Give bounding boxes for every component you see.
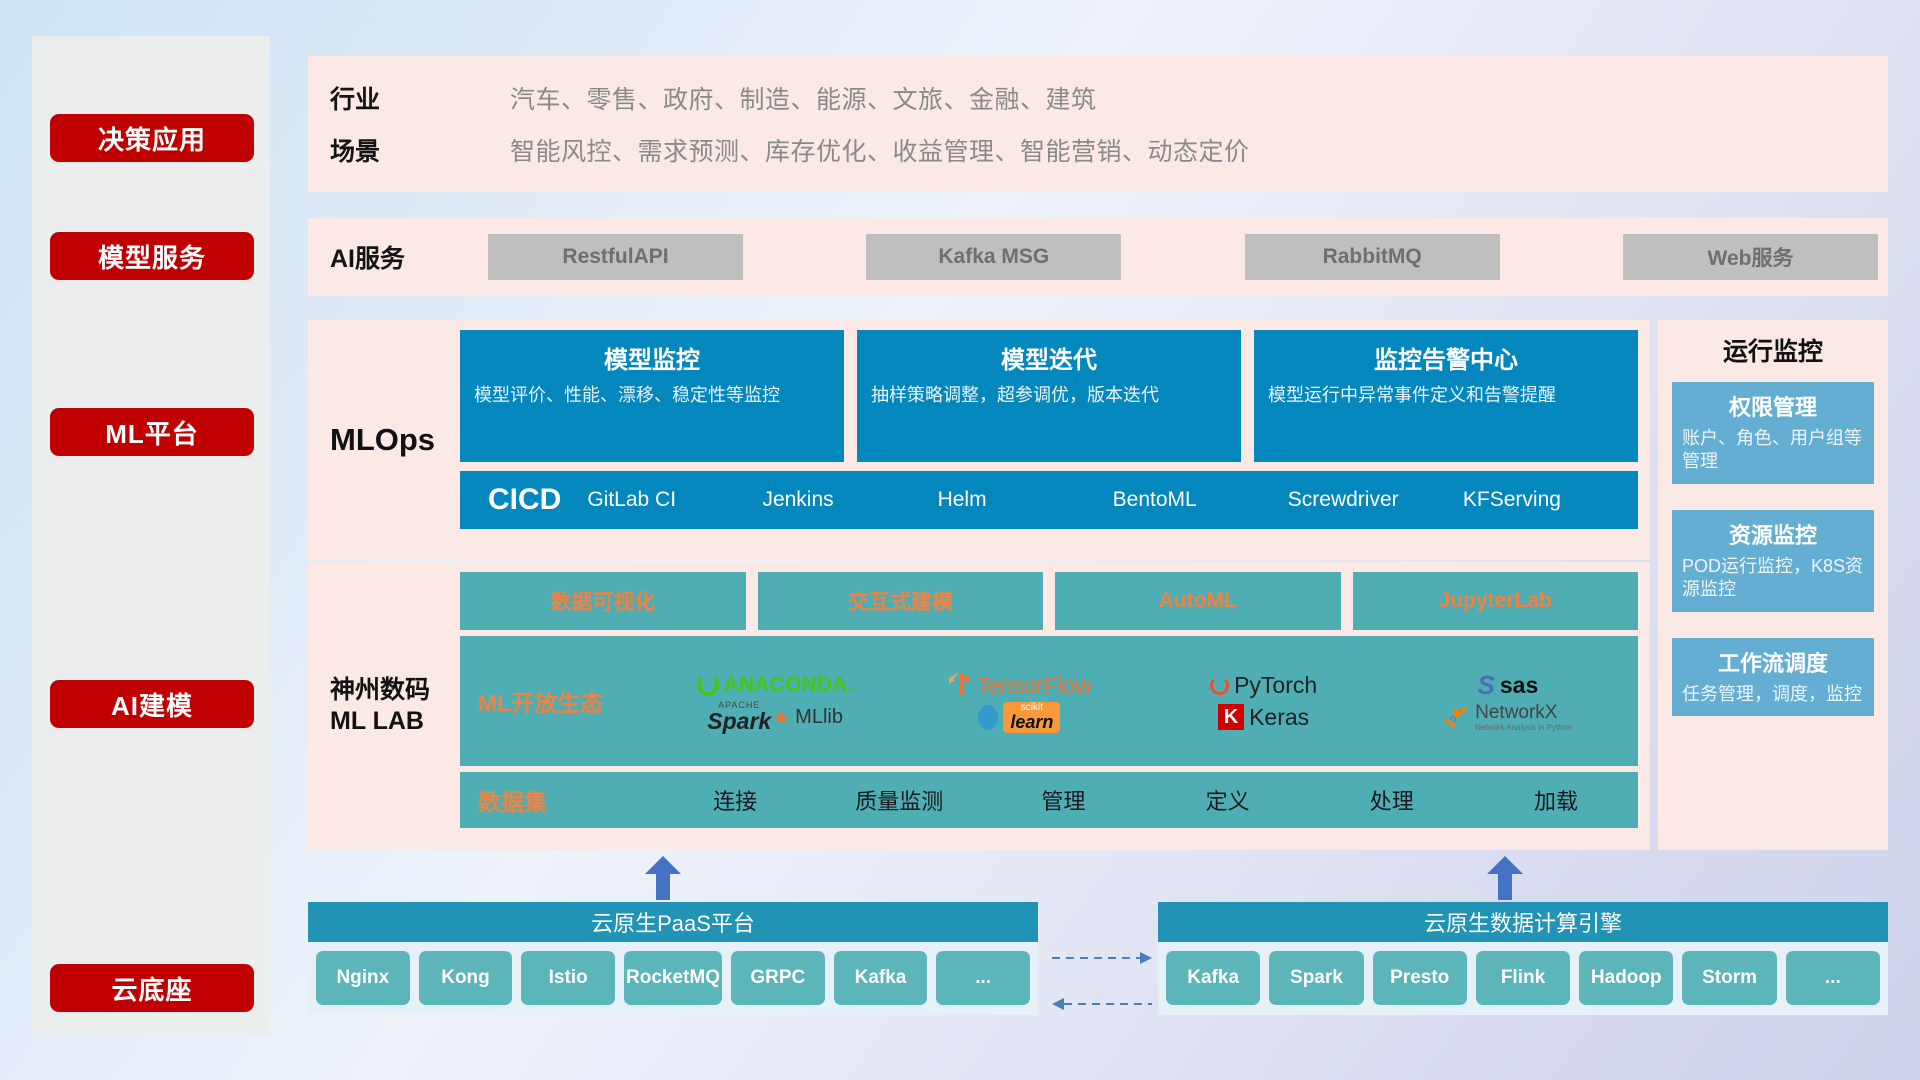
compute-chip-storm[interactable]: Storm	[1682, 951, 1776, 1005]
compute-chip-presto[interactable]: Presto	[1373, 951, 1467, 1005]
scikit-learn-logo: scikit learn	[978, 702, 1060, 733]
cicd-title: CICD	[460, 483, 587, 517]
runtime-monitoring-title: 运行监控	[1672, 332, 1874, 368]
mlops-card-model-monitoring[interactable]: 模型监控 模型评价、性能、漂移、稳定性等监控	[460, 330, 844, 462]
ml-ecosystem-label: ML开放生态	[478, 684, 653, 718]
up-arrow-paas-icon	[645, 856, 681, 900]
scenario-values: 智能风控、需求预测、库存优化、收益管理、智能营销、动态定价	[510, 132, 1888, 168]
cicd-item-screwdriver[interactable]: Screwdriver	[1288, 488, 1463, 512]
monitor-card-resources[interactable]: 资源监控 POD运行监控，K8S资源监控	[1672, 510, 1874, 612]
chip-label: Kong	[441, 968, 490, 989]
chip-label: Hadoop	[1591, 968, 1662, 989]
ai-services-band: AI服务 RestfulAPI Kafka MSG RabbitMQ Web服务	[308, 218, 1888, 296]
cicd-item-gitlab-ci[interactable]: GitLab CI	[587, 488, 762, 512]
chip-label: RocketMQ	[626, 968, 720, 989]
mlops-band: MLOps 模型监控 模型评价、性能、漂移、稳定性等监控 模型迭代 抽样策略调整…	[308, 320, 1650, 560]
learn-label: learn	[1010, 713, 1053, 731]
cloud-native-paas-title: 云原生PaaS平台	[308, 902, 1038, 942]
tool-chip-label: 数据可视化	[550, 586, 655, 616]
paas-chip-kong[interactable]: Kong	[419, 951, 513, 1005]
compute-chip-more[interactable]: ...	[1786, 951, 1880, 1005]
compute-chip-kafka[interactable]: Kafka	[1166, 951, 1260, 1005]
tool-chip-label: JupyterLab	[1439, 589, 1552, 613]
sidebar-item-decision-apps[interactable]: 决策应用	[50, 114, 254, 162]
mlops-card-model-iteration[interactable]: 模型迭代 抽样策略调整，超参调优，版本迭代	[857, 330, 1241, 462]
industry-label: 行业	[330, 80, 510, 116]
service-chip-label: RabbitMQ	[1323, 245, 1422, 269]
scenario-label: 场景	[330, 132, 510, 168]
sidebar-item-label: 模型服务	[98, 238, 206, 275]
sidebar-item-model-service[interactable]: 模型服务	[50, 232, 254, 280]
chip-label: ...	[975, 968, 991, 989]
anaconda-ring-icon	[697, 674, 719, 696]
keras-k-icon: K	[1218, 704, 1244, 730]
cloud-native-paas-group: 云原生PaaS平台 Nginx Kong Istio RocketMQ GRPC…	[308, 902, 1038, 1015]
ai-services-label: AI服务	[330, 239, 488, 275]
sidebar-item-cloud-base[interactable]: 云底座	[50, 964, 254, 1012]
keras-logo-text: Keras	[1249, 704, 1309, 731]
networkx-tagline: Network Analysis in Python	[1475, 724, 1572, 732]
layer-rail: 决策应用 模型服务 ML平台 AI建模 云底座	[32, 36, 270, 1036]
compute-chip-hadoop[interactable]: Hadoop	[1579, 951, 1673, 1005]
dataset-item-manage[interactable]: 管理	[981, 784, 1145, 816]
card-desc: 模型评价、性能、漂移、稳定性等监控	[474, 384, 830, 408]
cicd-row: CICD GitLab CI Jenkins Helm BentoML Scre…	[460, 471, 1638, 529]
paas-chip-rocketmq[interactable]: RocketMQ	[624, 951, 722, 1005]
service-chip-restfulapi[interactable]: RestfulAPI	[488, 234, 743, 280]
dataset-item-connect[interactable]: 连接	[653, 784, 817, 816]
sidebar-item-label: AI建模	[111, 686, 193, 723]
ml-lab-label: 神州数码 ML LAB	[330, 675, 430, 737]
scikit-label: scikit	[1010, 703, 1053, 713]
sas-logo: S sas	[1478, 670, 1539, 701]
networkx-graph-icon	[1444, 705, 1470, 729]
sidebar-item-label: ML平台	[105, 414, 199, 451]
card-title: 监控告警中心	[1374, 340, 1518, 375]
ml-ecosystem-row: ML开放生态 ANACONDA. TensorFlow	[460, 636, 1638, 766]
paas-chip-nginx[interactable]: Nginx	[316, 951, 410, 1005]
chip-label: Presto	[1390, 968, 1449, 989]
compute-chip-flink[interactable]: Flink	[1476, 951, 1570, 1005]
dataset-item-load[interactable]: 加载	[1474, 784, 1638, 816]
service-chip-web-service[interactable]: Web服务	[1623, 234, 1878, 280]
chip-label: Flink	[1501, 968, 1545, 989]
spark-logo-text: Spark	[707, 710, 771, 733]
keras-logo: K Keras	[1218, 704, 1309, 731]
paas-chip-kafka[interactable]: Kafka	[834, 951, 928, 1005]
tensorflow-mark-icon	[948, 671, 972, 699]
card-desc: 任务管理，调度，监控	[1682, 683, 1864, 706]
service-chip-kafka-msg[interactable]: Kafka MSG	[866, 234, 1121, 280]
mlops-label: MLOps	[330, 330, 460, 550]
chip-label: GRPC	[750, 968, 805, 989]
card-desc: 模型运行中异常事件定义和告警提醒	[1268, 384, 1624, 408]
dataset-row: 数据集 连接 质量监测 管理 定义 处理 加载	[460, 772, 1638, 828]
chip-label: Nginx	[336, 968, 389, 989]
cicd-item-jenkins[interactable]: Jenkins	[762, 488, 937, 512]
mlops-card-alert-center[interactable]: 监控告警中心 模型运行中异常事件定义和告警提醒	[1254, 330, 1638, 462]
tool-chip-label: AutoML	[1159, 589, 1237, 613]
monitor-card-workflow[interactable]: 工作流调度 任务管理，调度，监控	[1672, 638, 1874, 716]
anaconda-logo: ANACONDA.	[697, 673, 854, 697]
card-title: 工作流调度	[1682, 646, 1864, 678]
networkx-logo: NetworkX Network Analysis in Python	[1444, 702, 1572, 732]
card-title: 模型监控	[604, 340, 700, 375]
mllib-label: MLlib	[795, 706, 843, 729]
tensorflow-logo: TensorFlow	[948, 671, 1092, 699]
tool-chip-jupyterlab[interactable]: JupyterLab	[1353, 572, 1639, 630]
decision-applications-band: 行业 汽车、零售、政府、制造、能源、文旅、金融、建筑 场景 智能风控、需求预测、…	[308, 56, 1888, 192]
monitor-card-permissions[interactable]: 权限管理 账户、角色、用户组等管理	[1672, 382, 1874, 484]
runtime-monitoring-column: 运行监控 权限管理 账户、角色、用户组等管理 资源监控 POD运行监控，K8S资…	[1658, 320, 1888, 850]
paas-chip-grpc[interactable]: GRPC	[731, 951, 825, 1005]
cicd-item-helm[interactable]: Helm	[938, 488, 1113, 512]
cicd-item-kfserving[interactable]: KFServing	[1463, 488, 1638, 512]
chip-label: Kafka	[1187, 968, 1239, 989]
bidirectional-dashed-arrows-icon	[1048, 940, 1156, 1030]
chip-label: ...	[1825, 968, 1841, 989]
pytorch-logo-text: PyTorch	[1234, 672, 1317, 699]
compute-chip-spark[interactable]: Spark	[1269, 951, 1363, 1005]
paas-chip-more[interactable]: ...	[936, 951, 1030, 1005]
sas-s-icon: S	[1478, 670, 1495, 701]
service-chip-label: Kafka MSG	[938, 245, 1049, 269]
scikit-blob-icon	[978, 705, 998, 730]
paas-chip-istio[interactable]: Istio	[521, 951, 615, 1005]
industry-values: 汽车、零售、政府、制造、能源、文旅、金融、建筑	[510, 80, 1888, 116]
cicd-item-bentoml[interactable]: BentoML	[1113, 488, 1288, 512]
dataset-item-process[interactable]: 处理	[1310, 784, 1474, 816]
chip-label: Kafka	[855, 968, 907, 989]
sidebar-item-label: 决策应用	[98, 120, 206, 157]
dataset-title: 数据集	[478, 783, 653, 817]
tool-chip-label: 交互式建模	[848, 586, 953, 616]
card-title: 资源监控	[1682, 518, 1864, 550]
chip-label: Spark	[1290, 968, 1343, 989]
tensorflow-logo-text: TensorFlow	[977, 672, 1092, 699]
pytorch-flame-icon	[1210, 676, 1229, 695]
scikit-learn-badge: scikit learn	[1003, 702, 1060, 733]
dataset-item-define[interactable]: 定义	[1146, 784, 1310, 816]
service-chip-label: RestfulAPI	[562, 245, 668, 269]
tool-chip-interactive-modeling[interactable]: 交互式建模	[758, 572, 1044, 630]
card-desc: POD运行监控，K8S资源监控	[1682, 555, 1864, 602]
card-title: 权限管理	[1682, 390, 1864, 422]
up-arrow-compute-icon	[1487, 856, 1523, 900]
service-chip-rabbitmq[interactable]: RabbitMQ	[1245, 234, 1500, 280]
sas-logo-text: sas	[1500, 672, 1538, 699]
chip-label: Storm	[1702, 968, 1757, 989]
cloud-native-compute-title: 云原生数据计算引擎	[1158, 902, 1888, 942]
architecture-diagram: 决策应用 模型服务 ML平台 AI建模 云底座 行业 汽车、零售、政府、制造、能…	[0, 0, 1920, 1080]
spark-star-icon: ★	[772, 705, 790, 730]
service-chip-label: Web服务	[1708, 242, 1794, 272]
chip-label: Istio	[549, 968, 588, 989]
pytorch-logo: PyTorch	[1210, 672, 1317, 699]
networkx-logo-text: NetworkX	[1475, 702, 1572, 724]
spark-mllib-logo: APACHE Spark ★ MLlib	[707, 701, 843, 733]
sidebar-item-ai-modeling[interactable]: AI建模	[50, 680, 254, 728]
sidebar-item-ml-platform[interactable]: ML平台	[50, 408, 254, 456]
dataset-item-quality-monitoring[interactable]: 质量监测	[817, 784, 981, 816]
card-desc: 账户、角色、用户组等管理	[1682, 427, 1864, 474]
anaconda-logo-text: ANACONDA.	[724, 673, 854, 697]
sidebar-item-label: 云底座	[111, 970, 192, 1007]
cloud-native-compute-group: 云原生数据计算引擎 Kafka Spark Presto Flink Hadoo…	[1158, 902, 1888, 1015]
card-desc: 抽样策略调整，超参调优，版本迭代	[871, 384, 1227, 408]
card-title: 模型迭代	[1001, 340, 1097, 375]
tool-chip-automl[interactable]: AutoML	[1055, 572, 1341, 630]
ai-modeling-band: 神州数码 ML LAB 数据可视化 交互式建模 AutoML JupyterLa…	[308, 562, 1650, 850]
tool-chip-data-visualization[interactable]: 数据可视化	[460, 572, 746, 630]
